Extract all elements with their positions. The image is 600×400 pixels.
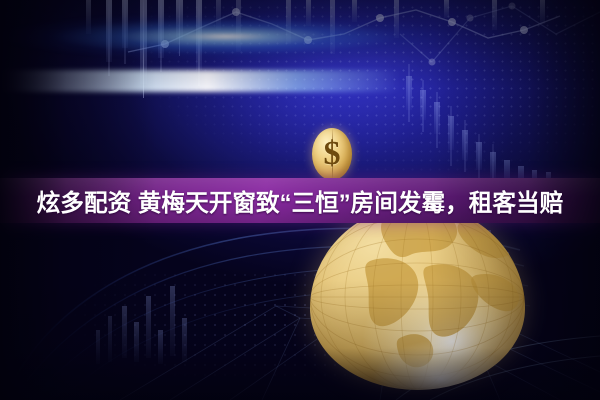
headline-bar: 炫多配资 黄梅天开窗致“三恒”房间发霉，租客当赔 (0, 178, 600, 223)
news-banner-image: $ 炫多配资 黄梅天开窗致“三恒”房间发霉，租客当赔 (0, 0, 600, 400)
headline-text: 炫多配资 黄梅天开窗致“三恒”房间发霉，租客当赔 (5, 183, 596, 218)
